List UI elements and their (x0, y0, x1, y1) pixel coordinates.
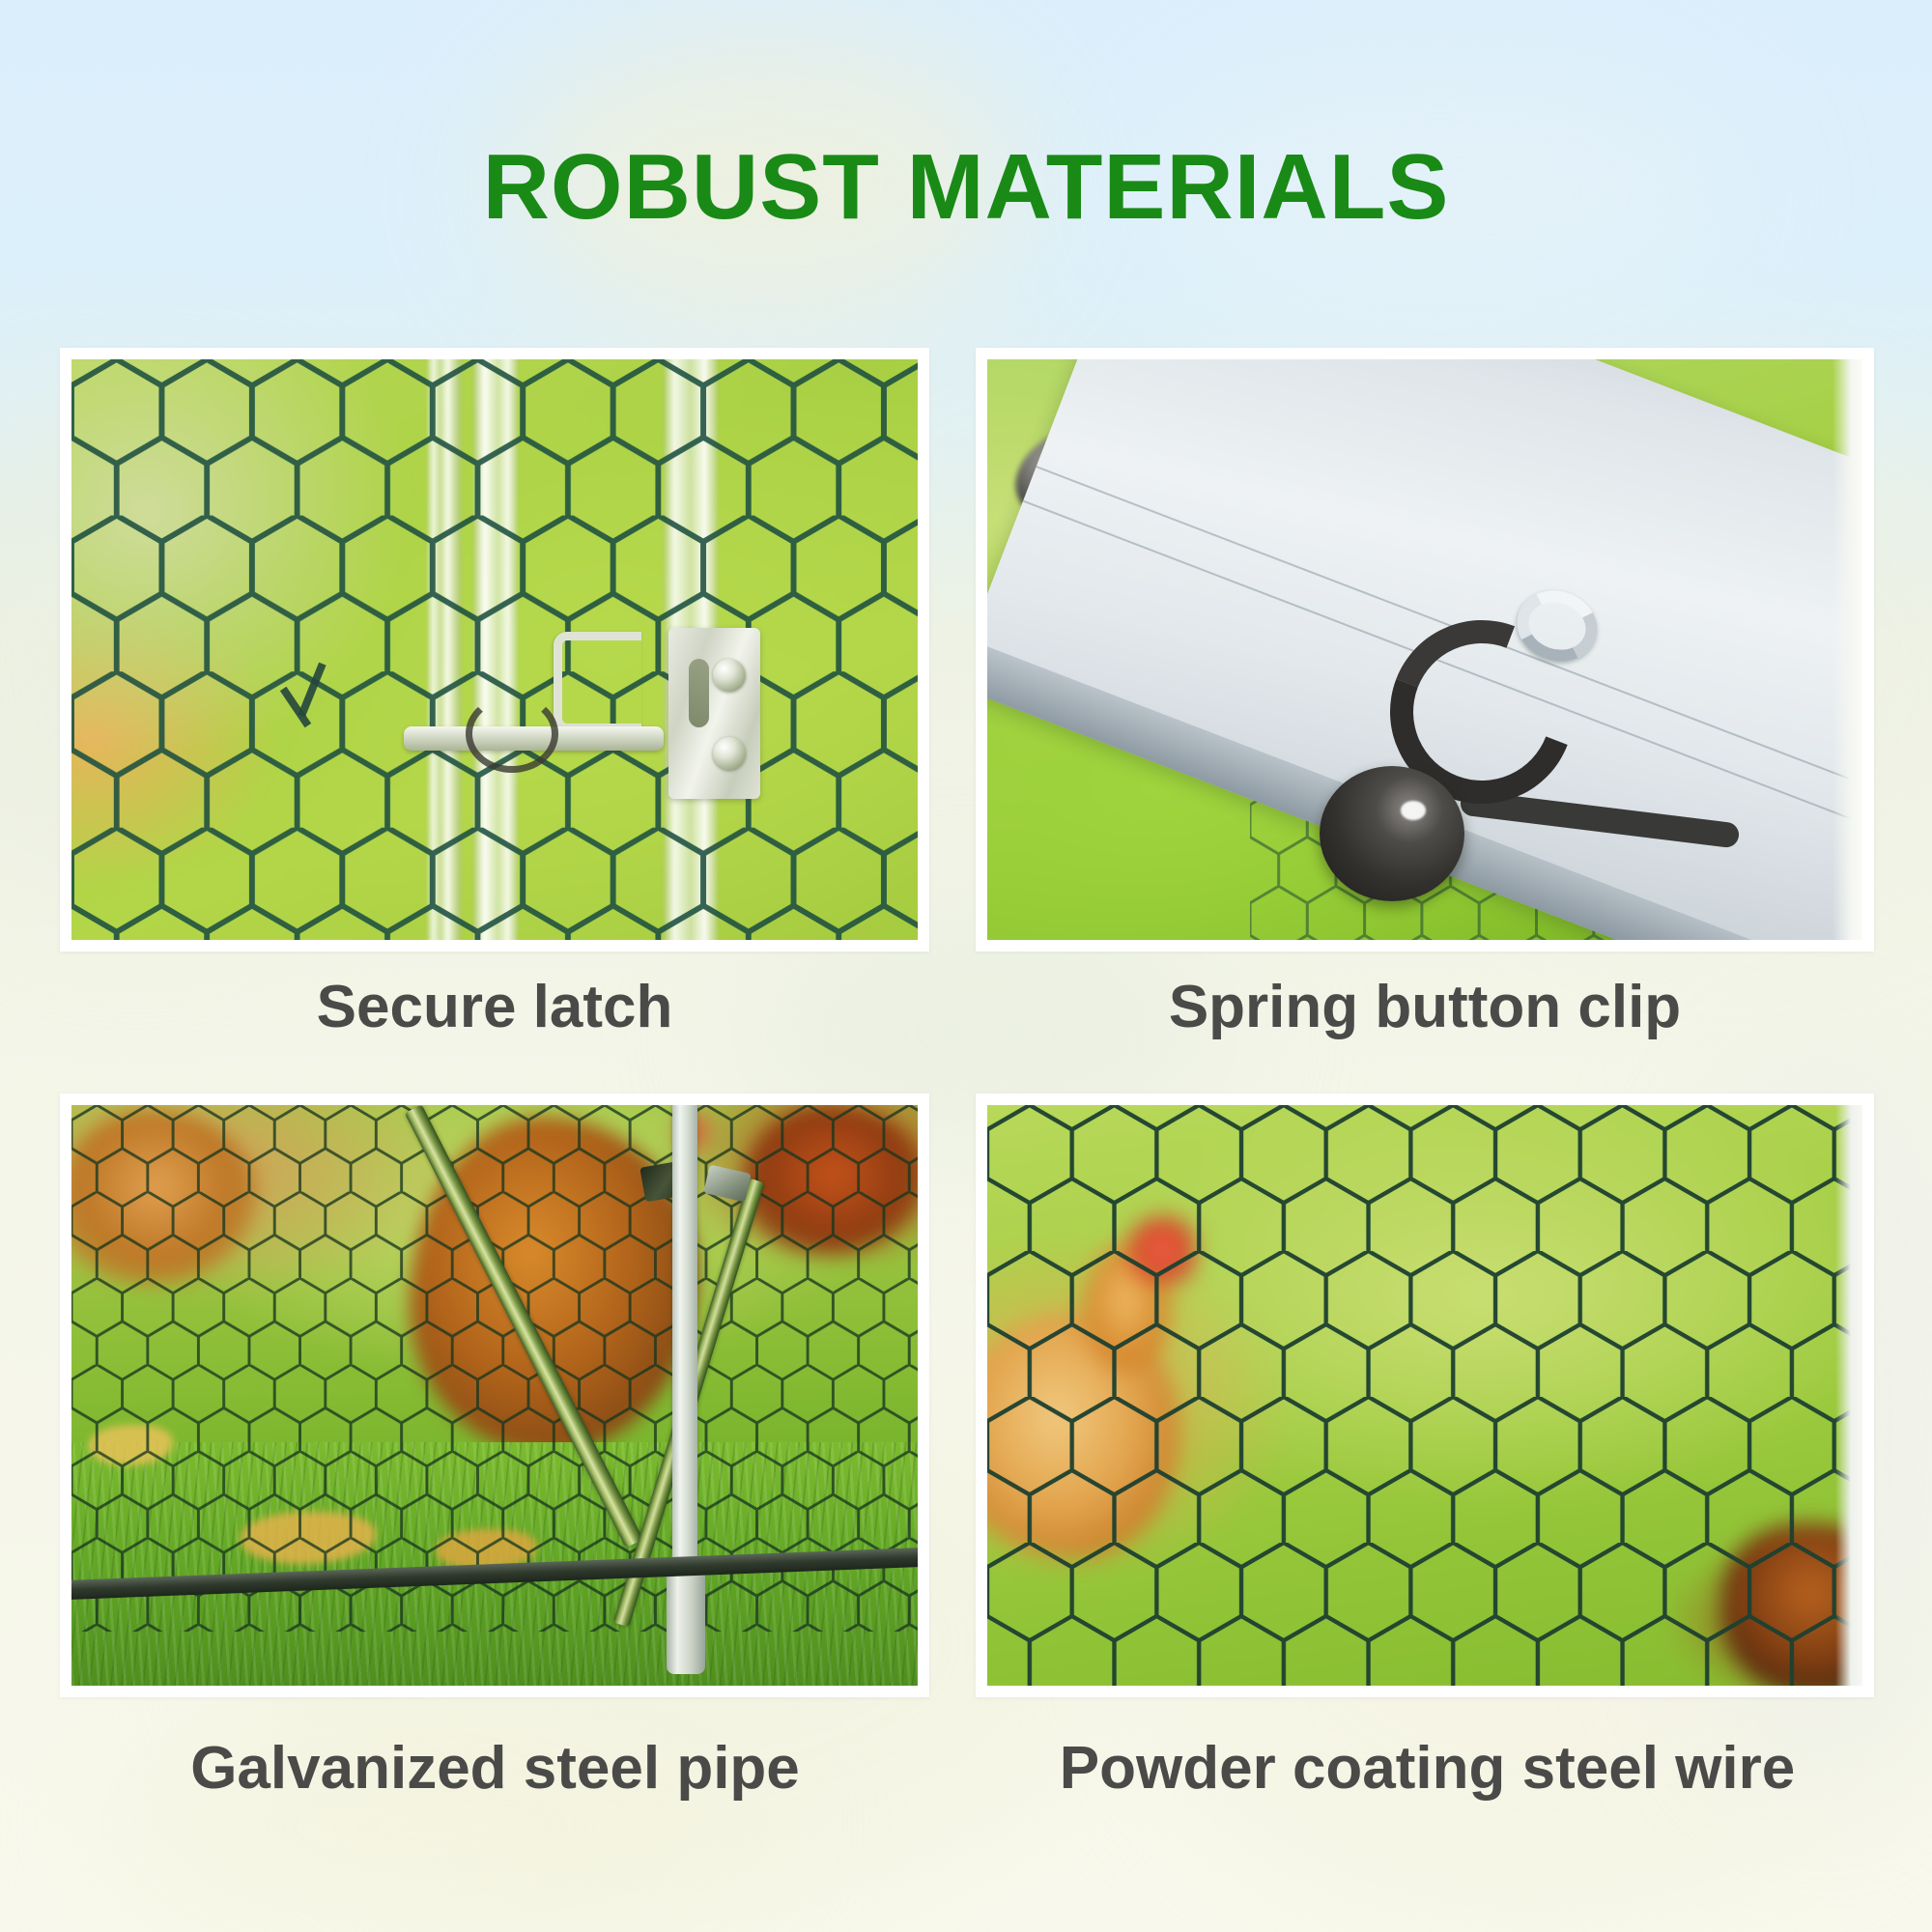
powder-coated-wire-pattern (987, 1105, 1862, 1686)
feature-card-grid (0, 0, 1932, 1932)
latch-slot (689, 659, 709, 727)
latch-rivet (713, 737, 746, 770)
bungee-ball (1320, 766, 1464, 901)
latch-mounting-plate (668, 628, 761, 799)
wire-mesh-icon (987, 1105, 1862, 1686)
spring-clip-icon (987, 359, 1862, 940)
caption-galvanized-steel-pipe: Galvanized steel pipe (39, 1739, 952, 1799)
photo-edge-fade (1835, 1105, 1862, 1686)
caption-spring-button-clip: Spring button clip (976, 978, 1874, 1037)
caption-powder-coating-steel-wire: Powder coating steel wire (952, 1739, 1903, 1799)
latch-hook (554, 632, 641, 732)
feature-card-galvanized-steel-pipe (60, 1094, 929, 1697)
photo-edge-fade (1833, 359, 1862, 940)
feature-card-secure-latch (60, 348, 929, 952)
feature-card-spring-button-clip (976, 348, 1874, 952)
steel-pipe-icon (71, 1105, 918, 1686)
wire-mesh-icon (71, 1105, 918, 1686)
latch-ring (466, 695, 558, 773)
wire-mesh-icon (71, 359, 918, 940)
feature-card-powder-coating-steel-wire (976, 1094, 1874, 1697)
latch-icon (71, 359, 918, 940)
latch-rivet (713, 659, 746, 692)
ball-highlight (1401, 801, 1426, 820)
pipe-foot (667, 1570, 705, 1674)
gate-latch-assembly (554, 620, 774, 806)
caption-secure-latch: Secure latch (60, 978, 929, 1037)
vertical-steel-pipe (672, 1105, 697, 1622)
